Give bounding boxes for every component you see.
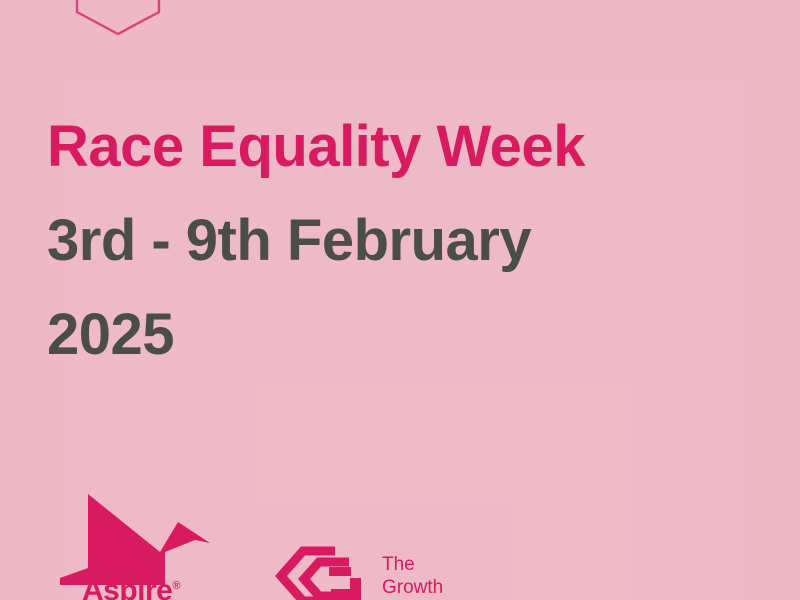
growth-line-2: Growth <box>382 576 443 599</box>
date-range: 3rd - 9th February <box>47 194 747 288</box>
growth-wordmark: The Growth <box>382 553 443 599</box>
aspire-logo: Aspire® <box>60 490 210 600</box>
aspire-trademark: ® <box>172 580 180 592</box>
headings-block: Race Equality Week 3rd - 9th February 20… <box>47 100 747 382</box>
growth-line-1: The <box>382 553 443 576</box>
bird-origami-icon <box>60 490 210 585</box>
page-title: Race Equality Week <box>47 100 747 194</box>
aspire-name: Aspire <box>82 574 172 600</box>
aspire-wordmark: Aspire® <box>82 574 180 600</box>
growth-logo: The Growth <box>275 545 443 600</box>
growth-g-hexagon-icon <box>275 545 370 600</box>
poster-canvas: Race Equality Week 3rd - 9th February 20… <box>0 0 800 600</box>
logo-row: Aspire® The Growth <box>60 490 760 600</box>
hexagon-outline-icon <box>74 0 162 36</box>
year: 2025 <box>47 288 747 382</box>
